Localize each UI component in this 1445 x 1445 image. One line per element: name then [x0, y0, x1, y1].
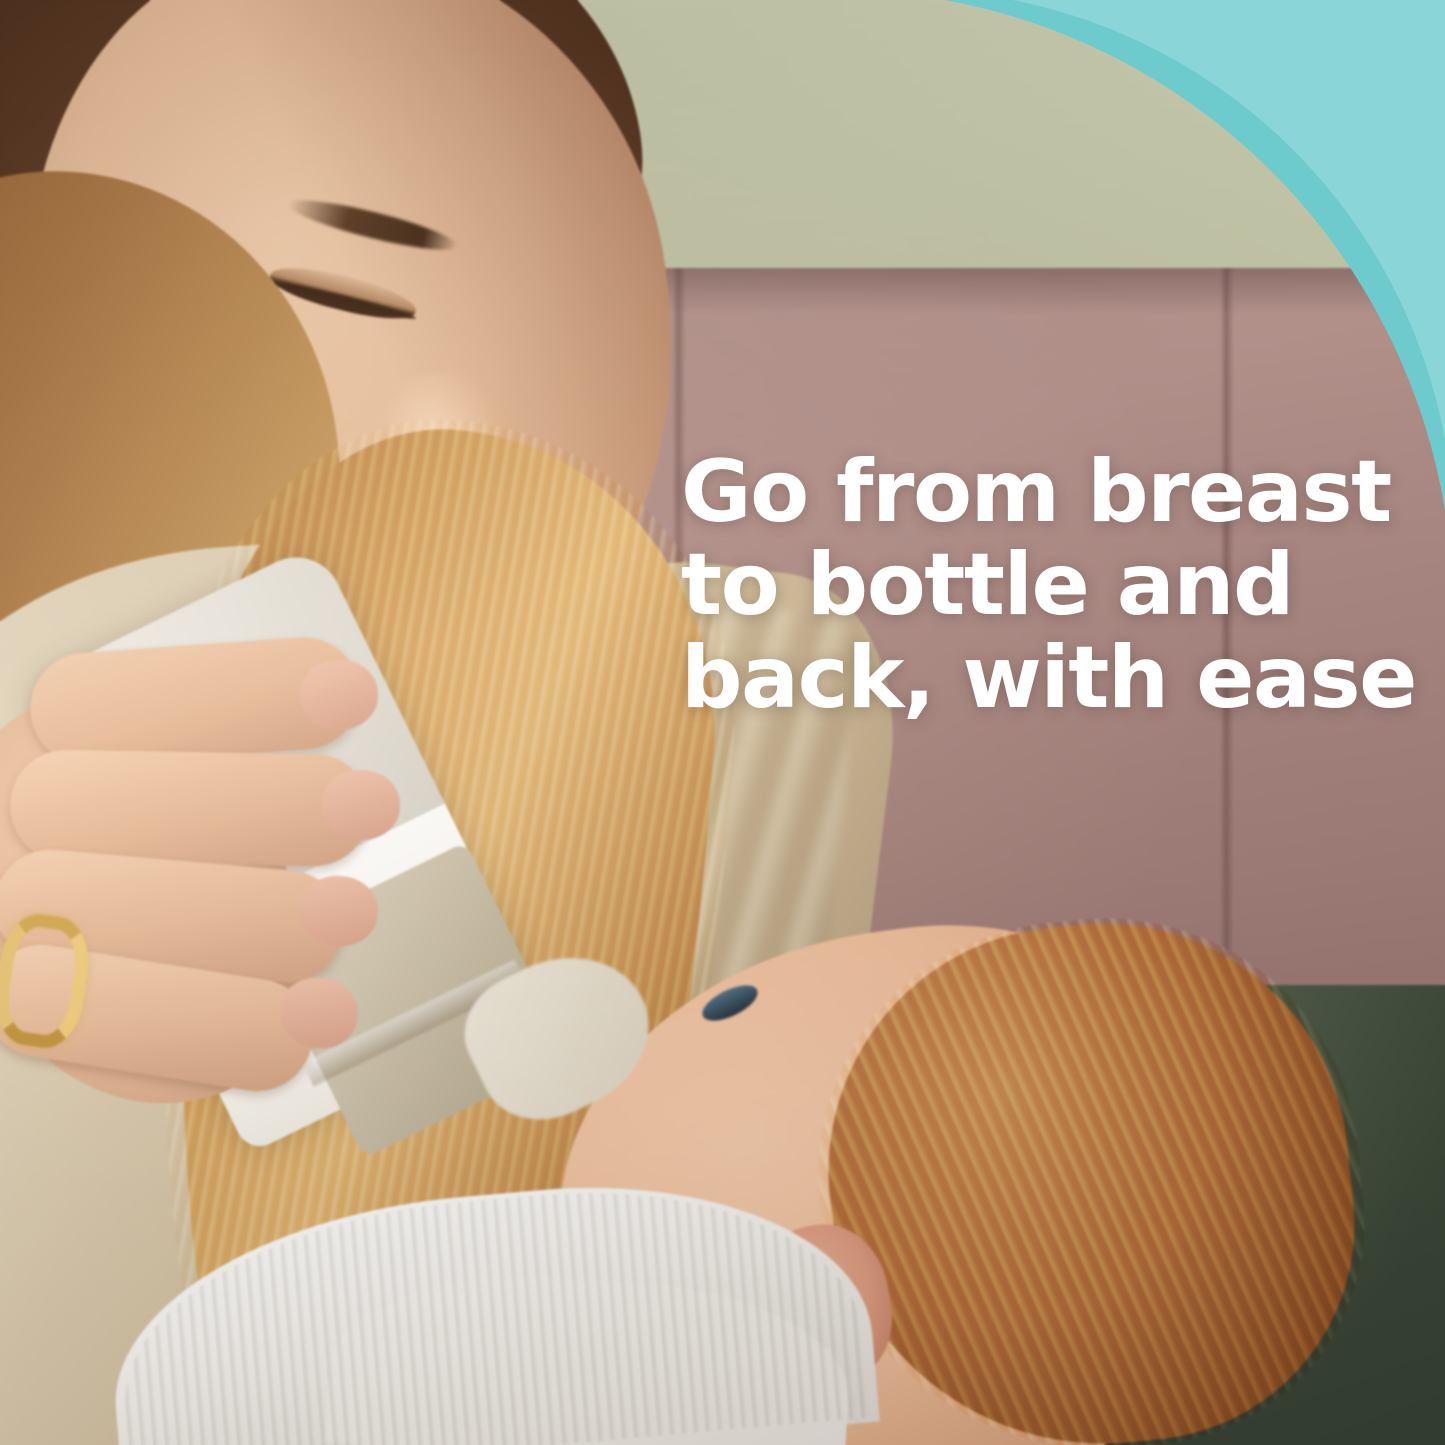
headline-line-2: to bottle and	[681, 539, 1381, 632]
headline-line-3: back, with ease	[681, 632, 1381, 725]
headline-line-1: Go from breast	[681, 446, 1381, 539]
product-lifestyle-banner: Go from breast to bottle and back, with …	[0, 0, 1445, 1445]
headline: Go from breast to bottle and back, with …	[681, 446, 1381, 725]
finger	[9, 749, 371, 867]
